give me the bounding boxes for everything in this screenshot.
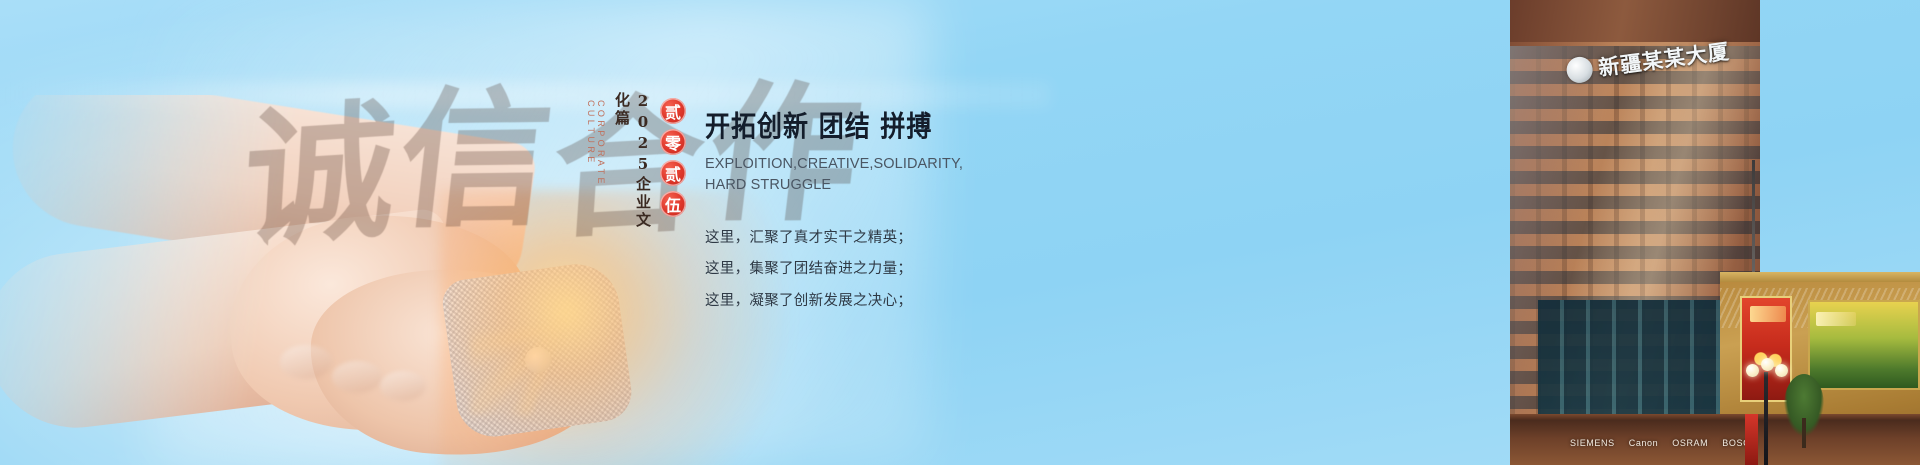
corporate-culture-banner: 诚信合作 贰 零 贰 伍 2025企业文化篇 CORPORATE CULTURE… bbox=[0, 0, 1920, 465]
street-lamp-head bbox=[1746, 358, 1788, 380]
shop-red-banner bbox=[1745, 414, 1758, 465]
shop-sign-1: SIEMENS bbox=[1570, 438, 1615, 448]
copy-block: 开拓创新 团结 拼搏 EXPLOITION,CREATIVE,SOLIDARIT… bbox=[705, 104, 1005, 317]
lamp-bulb bbox=[1746, 364, 1759, 377]
lamp-bulb bbox=[1775, 364, 1788, 377]
subtitle-line-1: EXPLOITION,CREATIVE,SOLIDARITY, bbox=[705, 154, 915, 175]
calligraphy-char-1: 诚 bbox=[240, 96, 404, 256]
street-tree-trunk bbox=[1802, 418, 1806, 448]
body-line-2: 这里，集聚了团结奋进之力量； bbox=[705, 254, 1005, 285]
seal-char-3: 贰 bbox=[660, 160, 686, 186]
seal-stack: 贰 零 贰 伍 bbox=[660, 98, 686, 217]
seal-char-2: 零 bbox=[660, 129, 686, 155]
body-line-1: 这里，汇聚了真才实干之精英； bbox=[705, 223, 1005, 254]
knuckle-shape bbox=[280, 345, 332, 379]
billboard-led bbox=[1808, 300, 1920, 390]
lamp-bulb bbox=[1761, 358, 1774, 371]
body-line-3: 这里，凝聚了创新发展之决心； bbox=[705, 286, 1005, 317]
vertical-label-en: CORPORATE CULTURE bbox=[586, 100, 606, 236]
tower-antenna bbox=[1752, 160, 1755, 284]
vertical-label-cn: 2025企业文化篇 bbox=[612, 92, 654, 232]
building-logo-icon bbox=[1565, 55, 1594, 84]
shop-sign-2: Canon bbox=[1629, 438, 1659, 448]
building-photo: 新疆某某大厦 SIEMENS Canon OSRAM BOSCH bbox=[1360, 0, 1920, 465]
subtitle-block: EXPLOITION,CREATIVE,SOLIDARITY, HARD STR… bbox=[705, 154, 915, 195]
seal-char-4: 伍 bbox=[660, 191, 686, 217]
calligraphy-char-2: 信 bbox=[392, 84, 563, 236]
knuckle-shape bbox=[380, 371, 426, 401]
seal-column: 贰 零 贰 伍 2025企业文化篇 CORPORATE CULTURE bbox=[586, 92, 686, 236]
billboard-red-header bbox=[1750, 306, 1786, 322]
street-lamp-post bbox=[1764, 372, 1768, 465]
knuckle-shape bbox=[332, 361, 382, 393]
subtitle-line-2: HARD STRUGGLE bbox=[705, 175, 915, 196]
seal-char-1: 贰 bbox=[660, 98, 686, 124]
body-lines: 这里，汇聚了真才实干之精英； 这里，集聚了团结奋进之力量； 这里，凝聚了创新发展… bbox=[705, 223, 1005, 317]
shop-sign-strip: SIEMENS Canon OSRAM BOSCH bbox=[1510, 420, 1920, 465]
tower-glass-curtain-wall bbox=[1538, 300, 1728, 420]
headline-text: 开拓创新 团结 拼搏 bbox=[705, 104, 1005, 145]
shop-sign-3: OSRAM bbox=[1672, 438, 1708, 448]
